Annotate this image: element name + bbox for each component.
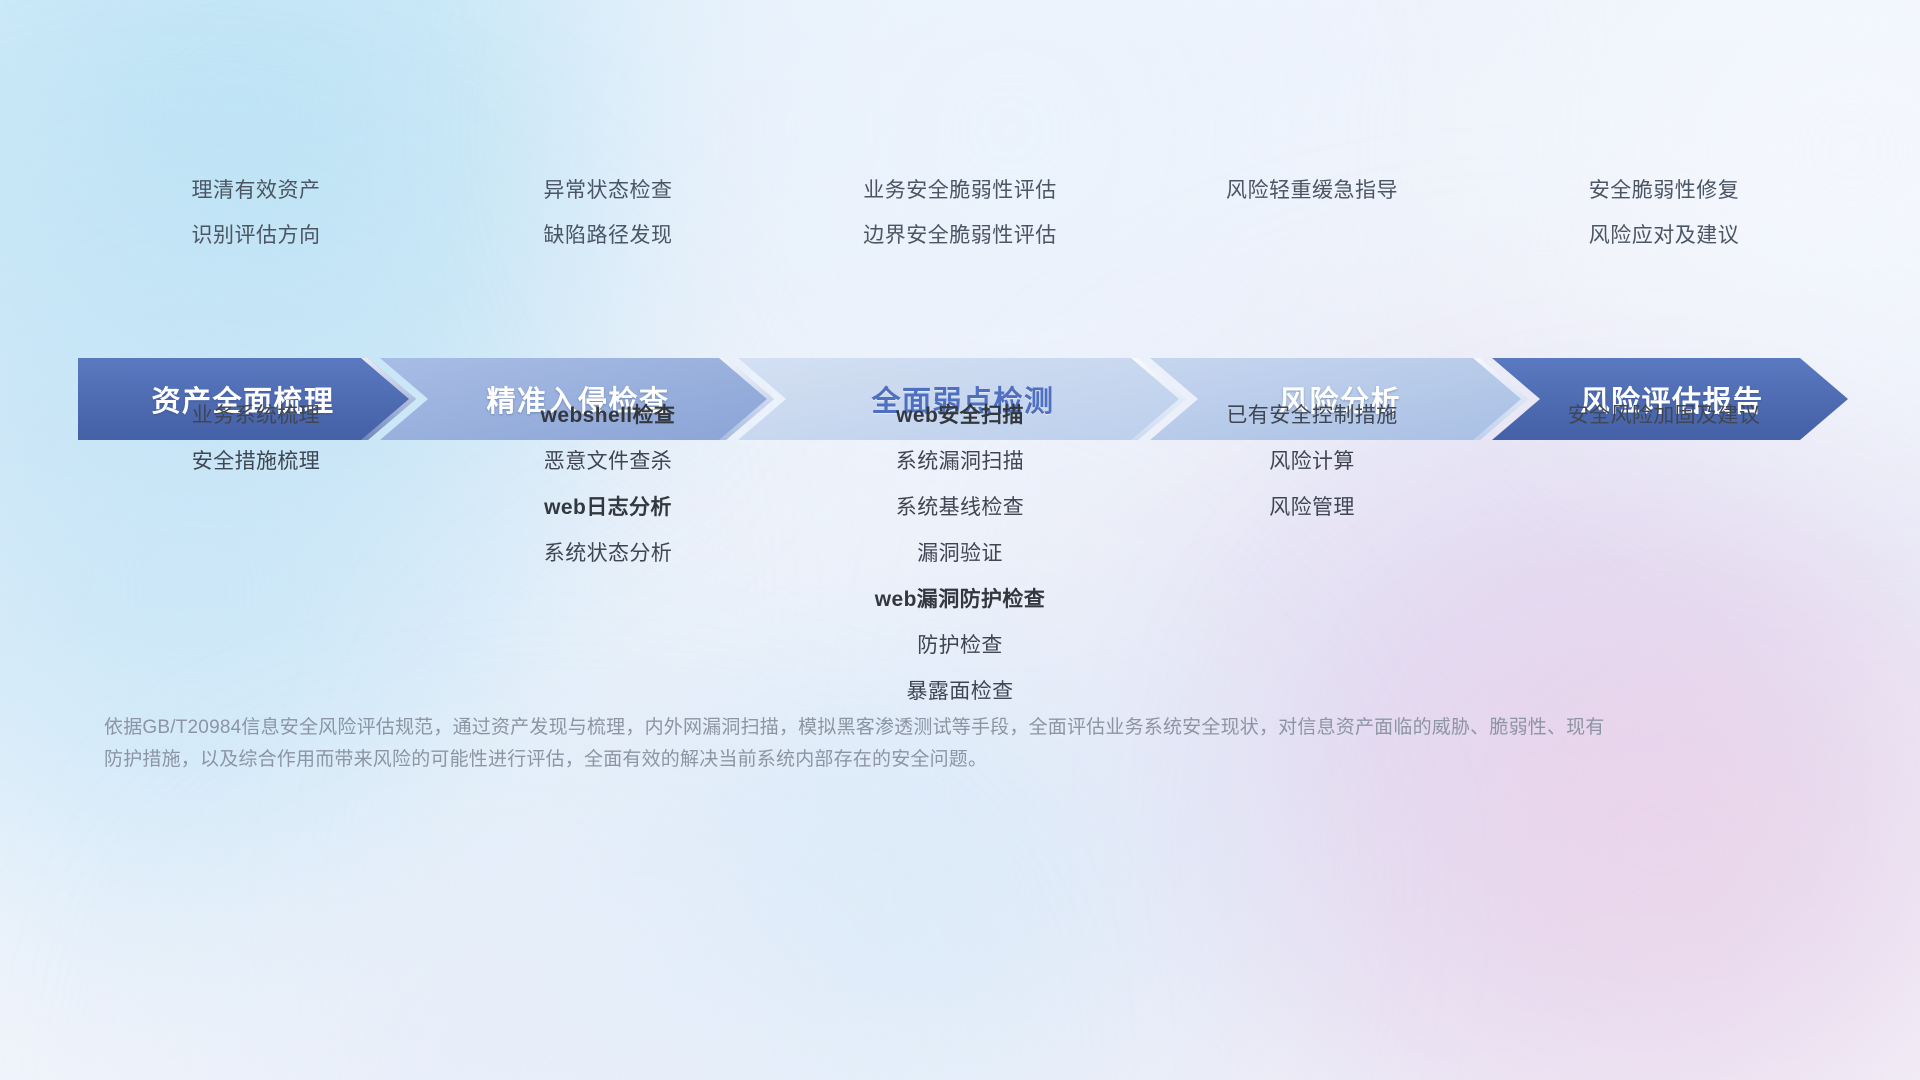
top-label: 识别评估方向 <box>192 225 321 246</box>
bottom-list-stage-4: 已有安全控制措施 风险计算 风险管理 <box>1136 405 1488 695</box>
list-item: 风险计算 <box>1269 451 1355 472</box>
top-labels-stage-1: 理清有效资产 识别评估方向 <box>80 180 432 290</box>
top-label: 业务安全脆弱性评估 <box>863 180 1057 201</box>
top-label: 风险轻重缓急指导 <box>1226 180 1398 201</box>
top-labels-stage-5: 安全脆弱性修复 风险应对及建议 <box>1488 180 1840 290</box>
list-item: web日志分析 <box>544 497 672 518</box>
list-item: 系统漏洞扫描 <box>896 451 1024 472</box>
bottom-list-stage-2: webshell检查 恶意文件查杀 web日志分析 系统状态分析 <box>432 405 784 695</box>
list-item: 防护检查 <box>917 635 1003 656</box>
top-label: 安全脆弱性修复 <box>1589 180 1740 201</box>
top-labels-row: 理清有效资产 识别评估方向 异常状态检查 缺陷路径发现 业务安全脆弱性评估 边界… <box>80 180 1840 290</box>
list-item: 安全风险加固及建议 <box>1568 405 1761 426</box>
footer-description: 依据GB/T20984信息安全风险评估规范，通过资产发现与梳理，内外网漏洞扫描，… <box>104 712 1614 776</box>
list-item: 业务系统梳理 <box>192 405 320 426</box>
list-item: 恶意文件查杀 <box>544 451 672 472</box>
bottom-list-stage-1: 业务系统梳理 安全措施梳理 <box>80 405 432 695</box>
list-item: 安全措施梳理 <box>192 451 320 472</box>
bottom-list-stage-5: 安全风险加固及建议 <box>1488 405 1840 695</box>
top-label: 异常状态检查 <box>544 180 673 201</box>
top-label: 边界安全脆弱性评估 <box>863 225 1057 246</box>
list-item: 漏洞验证 <box>917 543 1003 564</box>
list-item: web安全扫描 <box>896 405 1024 426</box>
process-diagram: 理清有效资产 识别评估方向 异常状态检查 缺陷路径发现 业务安全脆弱性评估 边界… <box>0 0 1920 1080</box>
list-item: webshell检查 <box>541 405 676 426</box>
top-labels-stage-4: 风险轻重缓急指导 <box>1136 180 1488 290</box>
top-labels-stage-2: 异常状态检查 缺陷路径发现 <box>432 180 784 290</box>
top-labels-stage-3: 业务安全脆弱性评估 边界安全脆弱性评估 <box>784 180 1136 290</box>
top-label: 理清有效资产 <box>192 180 321 201</box>
list-item: 系统状态分析 <box>544 543 672 564</box>
list-item: 暴露面检查 <box>907 681 1014 702</box>
bottom-lists-row: 业务系统梳理 安全措施梳理 webshell检查 恶意文件查杀 web日志分析 … <box>80 405 1840 695</box>
list-item: 已有安全控制措施 <box>1226 405 1397 426</box>
bottom-list-stage-3: web安全扫描 系统漏洞扫描 系统基线检查 漏洞验证 web漏洞防护检查 防护检… <box>784 405 1136 695</box>
top-label: 缺陷路径发现 <box>544 225 673 246</box>
top-label: 风险应对及建议 <box>1589 225 1740 246</box>
list-item: 风险管理 <box>1269 497 1355 518</box>
list-item: web漏洞防护检查 <box>875 589 1045 610</box>
list-item: 系统基线检查 <box>896 497 1024 518</box>
